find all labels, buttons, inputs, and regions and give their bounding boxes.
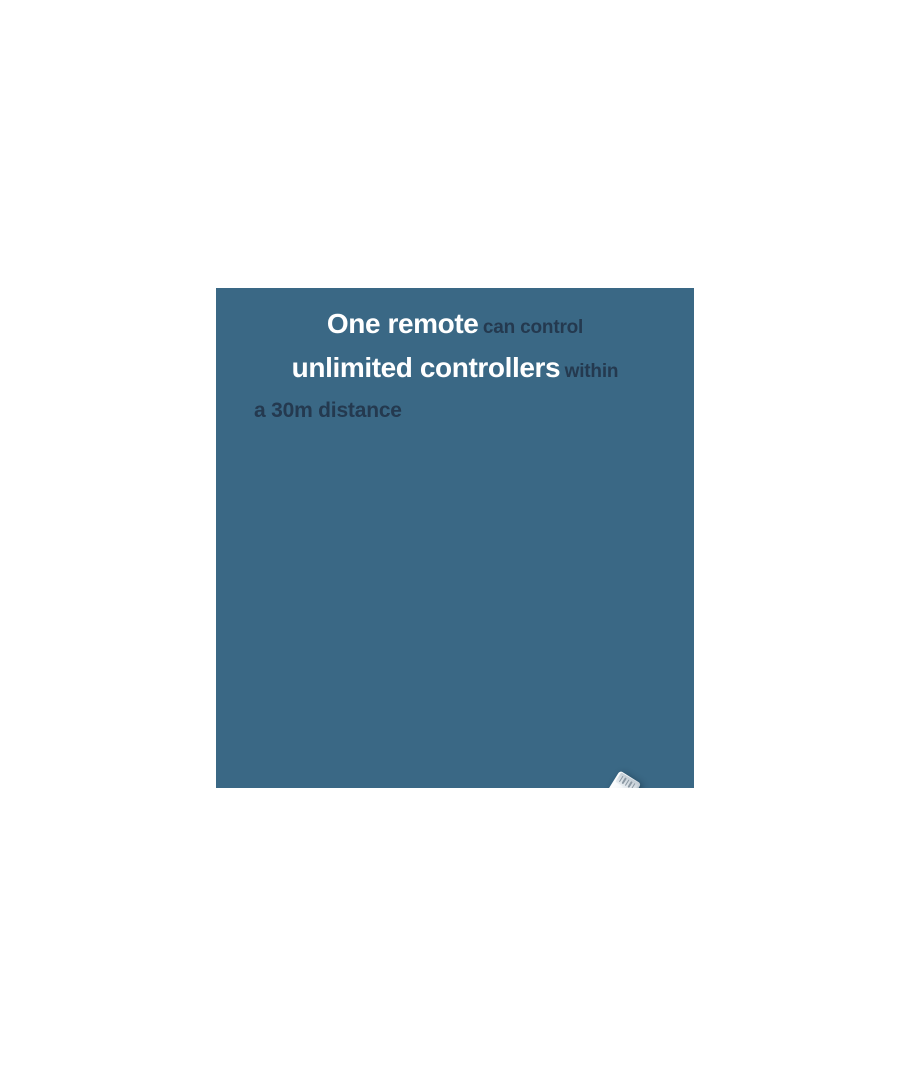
headline-line-3: a 30m distance <box>216 400 694 421</box>
headline-text-can-control: can control <box>483 317 583 338</box>
led-controller-module: CE <box>581 770 641 788</box>
headline-text-distance: a 30m distance <box>254 399 402 422</box>
controller-body: CE <box>581 770 641 788</box>
headline-text-within: within <box>565 361 619 382</box>
terminal-block-right <box>615 772 639 788</box>
promo-panel: One remote can control unlimited control… <box>216 288 694 788</box>
controller-print-label <box>594 787 628 788</box>
headline-bold-unlimited-controllers: unlimited controllers <box>292 352 561 383</box>
headline-line-1: One remote can control <box>216 310 694 338</box>
headline-line-2: unlimited controllers within <box>216 354 694 382</box>
headline-bold-one-remote: One remote <box>327 308 479 339</box>
